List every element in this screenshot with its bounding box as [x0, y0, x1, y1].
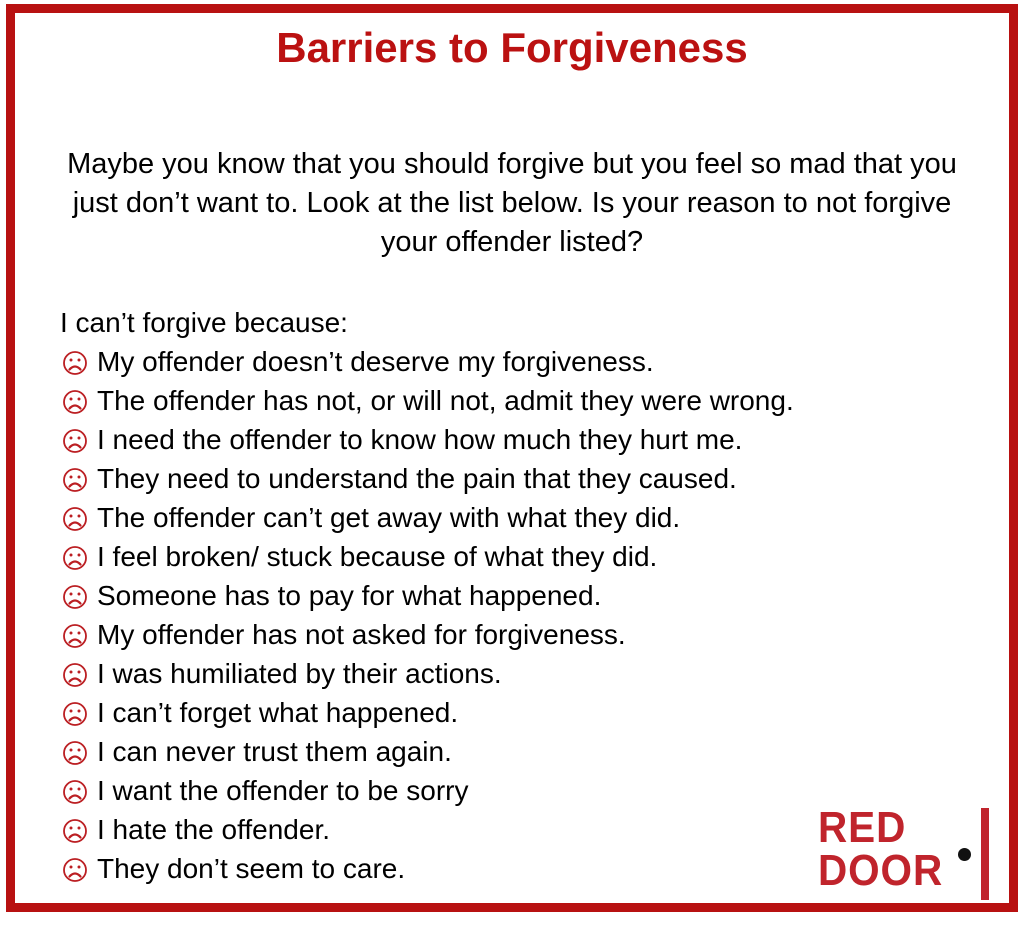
list-item: I was humiliated by their actions.	[59, 654, 959, 693]
list-heading: I can’t forgive because:	[60, 303, 959, 342]
list-item-label: My offender has not asked for forgivenes…	[97, 615, 626, 654]
poster-page: Barriers to Forgiveness Maybe you know t…	[0, 0, 1024, 925]
frowning-face-icon	[59, 537, 97, 576]
frowning-face-icon	[59, 771, 97, 810]
list-item-label: The offender can’t get away with what th…	[97, 498, 680, 537]
list-item: Someone has to pay for what happened.	[59, 576, 959, 615]
page-title: Barriers to Forgiveness	[0, 26, 1024, 70]
frowning-face-icon	[59, 693, 97, 732]
barriers-section: I can’t forgive because: My offender doe…	[59, 303, 959, 888]
frowning-face-icon	[59, 420, 97, 459]
list-item-label: My offender doesn’t deserve my forgivene…	[97, 342, 654, 381]
frowning-face-icon	[59, 810, 97, 849]
frowning-face-icon	[59, 498, 97, 537]
poster-content: Barriers to Forgiveness Maybe you know t…	[0, 0, 1024, 925]
list-item-label: I want the offender to be sorry	[97, 771, 468, 810]
frowning-face-icon	[59, 732, 97, 771]
list-item-label: I can’t forget what happened.	[97, 693, 458, 732]
doorknob-dot-icon	[958, 848, 971, 861]
list-item-label: They don’t seem to care.	[97, 849, 405, 888]
list-item-label: I hate the offender.	[97, 810, 330, 849]
red-door-logo: RED DOOR	[818, 806, 988, 902]
frowning-face-icon	[59, 849, 97, 888]
door-edge-bar-icon	[981, 808, 989, 900]
list-item-label: Someone has to pay for what happened.	[97, 576, 601, 615]
list-item-label: I feel broken/ stuck because of what the…	[97, 537, 657, 576]
list-item: I need the offender to know how much the…	[59, 420, 959, 459]
list-item-label: They need to understand the pain that th…	[97, 459, 737, 498]
frowning-face-icon	[59, 381, 97, 420]
list-item: I can’t forget what happened.	[59, 693, 959, 732]
frowning-face-icon	[59, 654, 97, 693]
list-item: My offender doesn’t deserve my forgivene…	[59, 342, 959, 381]
logo-wordmark: RED DOOR	[818, 806, 943, 892]
intro-paragraph: Maybe you know that you should forgive b…	[62, 145, 962, 262]
list-item: I feel broken/ stuck because of what the…	[59, 537, 959, 576]
frowning-face-icon	[59, 342, 97, 381]
frowning-face-icon	[59, 459, 97, 498]
list-item: The offender has not, or will not, admit…	[59, 381, 959, 420]
list-item-label: I was humiliated by their actions.	[97, 654, 502, 693]
list-item: I can never trust them again.	[59, 732, 959, 771]
logo-line-red: RED	[818, 806, 943, 849]
frowning-face-icon	[59, 615, 97, 654]
list-item-label: I need the offender to know how much the…	[97, 420, 742, 459]
list-item: The offender can’t get away with what th…	[59, 498, 959, 537]
logo-line-door: DOOR	[818, 849, 943, 892]
list-item: They need to understand the pain that th…	[59, 459, 959, 498]
frowning-face-icon	[59, 576, 97, 615]
list-item: My offender has not asked for forgivenes…	[59, 615, 959, 654]
list-item-label: The offender has not, or will not, admit…	[97, 381, 794, 420]
list-item-label: I can never trust them again.	[97, 732, 452, 771]
